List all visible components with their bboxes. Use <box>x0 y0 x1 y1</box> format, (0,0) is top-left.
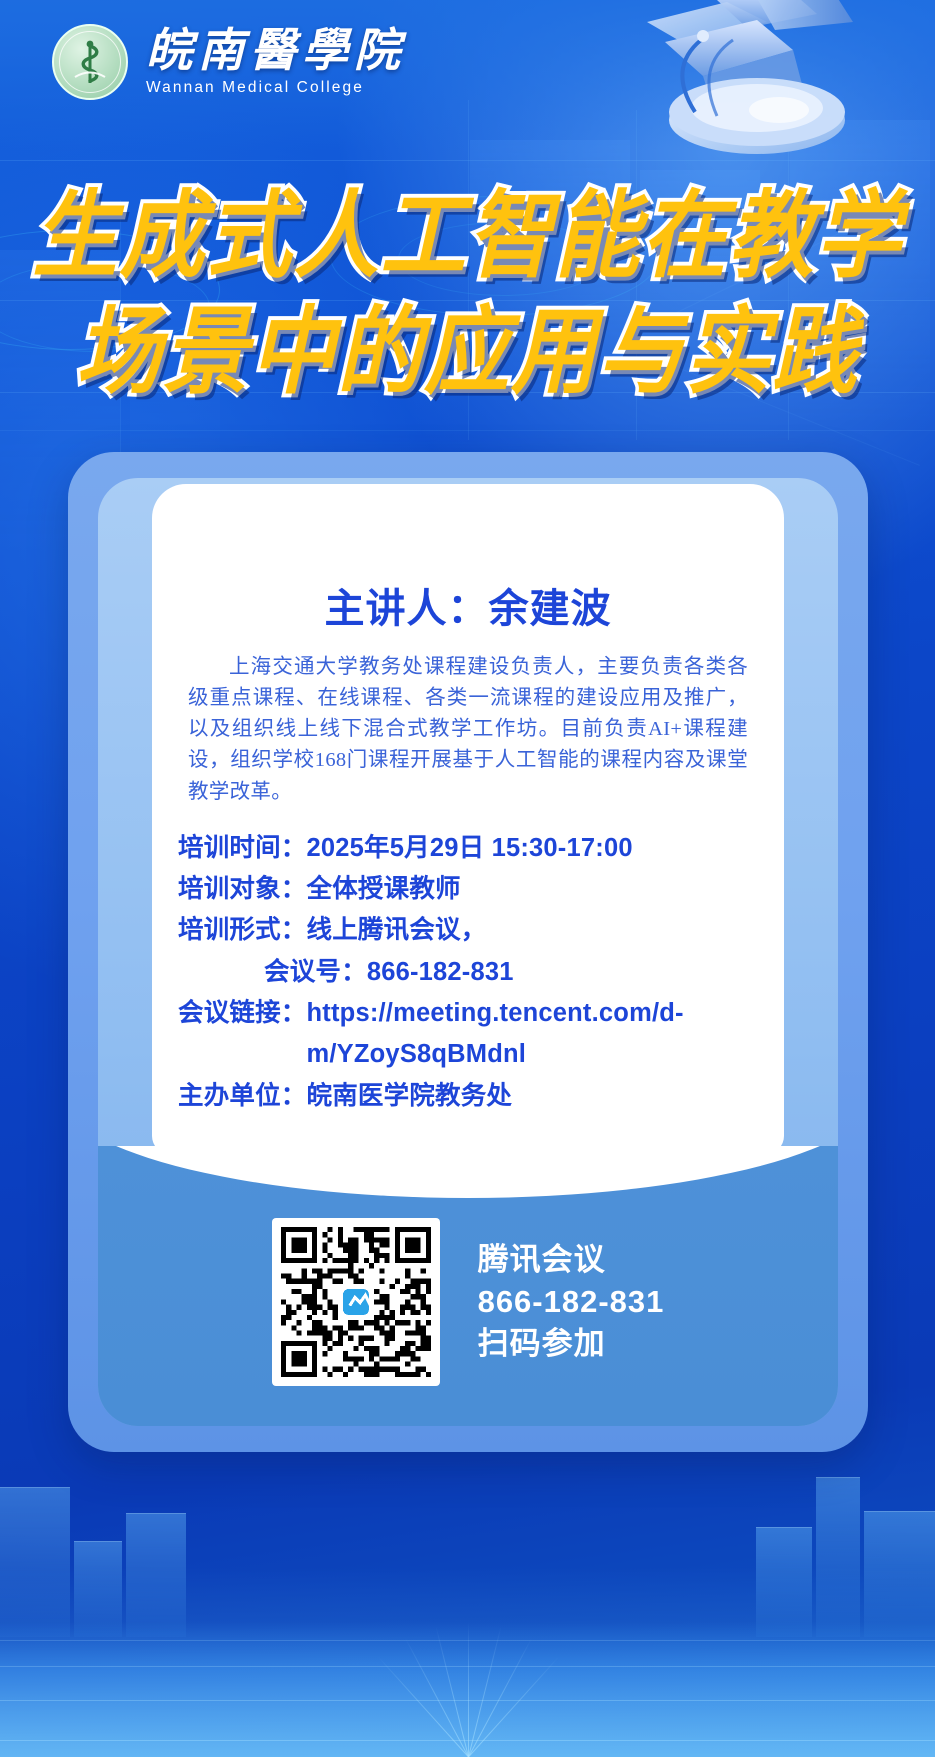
info-row: 会议号：866-182-831 <box>178 952 784 993</box>
info-label: 主办单位： <box>178 1076 307 1117</box>
info-row: 培训对象：全体授课教师 <box>178 869 784 910</box>
info-value: 866-182-831 <box>367 952 514 993</box>
info-row: 培训形式：线上腾讯会议， <box>178 910 784 951</box>
info-label: 培训时间： <box>178 828 307 869</box>
info-value: 皖南医学院教务处 <box>307 1076 513 1117</box>
info-row: 会议链接：https://meeting.tencent.com/d-m/YZo… <box>178 993 784 1076</box>
tencent-meeting-qr-code-icon[interactable] <box>272 1218 440 1386</box>
speaker-bio: 上海交通大学教务处课程建设负责人，主要负责各类各级重点课程、在线课程、各类一流课… <box>188 652 748 808</box>
title-line-2: 场景中的应用与实践 <box>0 294 935 410</box>
info-row: 培训时间：2025年5月29日 15:30-17:00 <box>178 828 784 869</box>
info-value: 2025年5月29日 15:30-17:00 <box>307 828 633 869</box>
info-label: 培训对象： <box>178 869 307 910</box>
college-emblem-icon <box>52 24 128 100</box>
bottom-glow <box>0 1567 935 1757</box>
info-row: 主办单位：皖南医学院教务处 <box>178 1076 784 1117</box>
poster-root: 皖南醫學院 Wannan Medical College <box>0 0 935 1757</box>
qr-band: 腾讯会议 866-182-831 扫码参加 <box>98 1146 838 1426</box>
speaker-heading: 主讲人：余建波 <box>152 576 784 634</box>
poster-title: 生成式人工智能在教学 场景中的应用与实践 <box>0 185 935 404</box>
info-value: 全体授课教师 <box>307 869 461 910</box>
brand-name-cn: 皖南醫學院 <box>146 27 406 75</box>
info-label: 会议号： <box>264 952 367 993</box>
info-label: 培训形式： <box>178 910 307 951</box>
brand-header: 皖南醫學院 Wannan Medical College <box>52 24 406 100</box>
qr-line-1: 腾讯会议 <box>478 1239 665 1281</box>
qr-line-2: 866-182-831 <box>478 1281 665 1323</box>
qr-line-3: 扫码参加 <box>478 1323 665 1365</box>
info-label: 会议链接： <box>178 993 307 1076</box>
brand-name-en: Wannan Medical College <box>146 79 406 97</box>
info-value[interactable]: https://meeting.tencent.com/d-m/YZoyS8qB… <box>307 993 784 1076</box>
title-line-1: 生成式人工智能在教学 <box>0 179 935 295</box>
qr-caption: 腾讯会议 866-182-831 扫码参加 <box>478 1239 665 1365</box>
info-value: 线上腾讯会议， <box>307 910 487 951</box>
info-list: 培训时间：2025年5月29日 15:30-17:00培训对象：全体授课教师培训… <box>178 828 784 1117</box>
vr-device-illustration <box>607 0 907 202</box>
info-card: 主讲人：余建波 上海交通大学教务处课程建设负责人，主要负责各类各级重点课程、在线… <box>152 484 784 1154</box>
